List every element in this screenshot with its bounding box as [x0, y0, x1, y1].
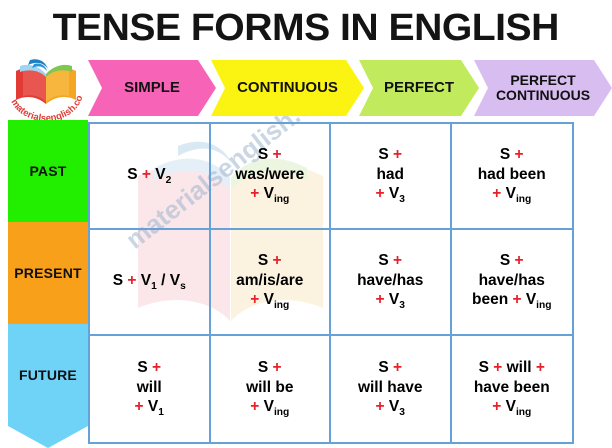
tense-formula-line: + V1	[135, 397, 164, 420]
tense-formula-line: S + V2	[127, 165, 171, 188]
row-header-column: PAST PRESENT FUTURE	[8, 120, 88, 446]
row-header-present-label: PRESENT	[14, 265, 82, 281]
column-header-perfect-continuous[interactable]: PERFECT CONTINUOUS	[474, 60, 612, 116]
tense-cell: S + will +have been+ Ving	[452, 336, 573, 442]
tense-cell: S +have/hasbeen + Ving	[452, 230, 573, 336]
tense-formula-line: have/has	[479, 271, 545, 290]
column-header-row: materialsenglish.com SIMPLE CONTINUOUS P…	[0, 56, 612, 120]
tense-formula-line: + V3	[376, 290, 405, 313]
tense-formula-line: S +	[500, 251, 524, 270]
row-header-future-label: FUTURE	[19, 367, 77, 383]
tense-formula-line: S +	[378, 251, 402, 270]
site-logo: materialsenglish.com	[4, 58, 88, 120]
tense-cell: S + V2	[90, 124, 211, 230]
column-header-perfect-label: PERFECT	[384, 80, 454, 96]
pc-line2: CONTINUOUS	[496, 87, 590, 103]
row-header-past-label: PAST	[29, 163, 66, 179]
tense-formula-line: been + Ving	[472, 290, 552, 313]
title-bar: TENSE FORMS IN ENGLISH	[0, 0, 612, 56]
tense-formula-line: will be	[246, 378, 293, 397]
tense-formula-line: S +	[258, 145, 282, 164]
tense-formula-line: S +	[258, 358, 282, 377]
tense-cell: S +had been+ Ving	[452, 124, 573, 230]
column-header-perfect[interactable]: PERFECT	[359, 60, 479, 116]
tense-cell: S +was/were+ Ving	[211, 124, 332, 230]
tense-formula-line: am/is/are	[236, 271, 303, 290]
tense-formula-line: S +	[258, 251, 282, 270]
tense-cell: S + V1 / Vs	[90, 230, 211, 336]
column-header-continuous[interactable]: CONTINUOUS	[211, 60, 364, 116]
tense-formula-line: had	[376, 165, 404, 184]
tense-formula-line: + Ving	[250, 184, 289, 207]
pc-line1: PERFECT	[510, 72, 575, 88]
tense-formula-line: + V3	[376, 397, 405, 420]
tense-formula-line: will	[137, 378, 162, 397]
tense-formula-line: will have	[358, 378, 423, 397]
tense-cell: S +had+ V3	[331, 124, 452, 230]
tense-formula-line: S + will +	[479, 358, 545, 377]
book-glyph	[16, 59, 76, 104]
tense-formula-line: was/were	[235, 165, 304, 184]
tense-formula-line: S +	[378, 358, 402, 377]
tense-formula-line: + Ving	[492, 184, 531, 207]
tense-cell: S +will have+ V3	[331, 336, 452, 442]
tense-formula-line: + Ving	[250, 397, 289, 420]
column-header-perfect-continuous-label: PERFECT CONTINUOUS	[496, 73, 590, 102]
tense-chart: materialsenglish.com materialsenglish.co…	[0, 56, 612, 446]
tense-formula-line: S +	[500, 145, 524, 164]
column-header-simple-label: SIMPLE	[124, 80, 180, 96]
tense-formula-line: S +	[378, 145, 402, 164]
page-title: TENSE FORMS IN ENGLISH	[53, 9, 559, 47]
tense-cell: S +am/is/are+ Ving	[211, 230, 332, 336]
tense-cell: S +will be+ Ving	[211, 336, 332, 442]
tense-formula-line: have/has	[357, 271, 423, 290]
column-header-continuous-label: CONTINUOUS	[237, 80, 338, 96]
tense-cell: S +will+ V1	[90, 336, 211, 442]
column-header-simple[interactable]: SIMPLE	[88, 60, 216, 116]
tense-formula-line: S +	[137, 358, 161, 377]
row-header-future[interactable]: FUTURE	[8, 324, 88, 448]
tense-formula-line: + Ving	[492, 397, 531, 420]
tense-formula-line: S + V1 / Vs	[113, 271, 186, 294]
tense-formula-line: have been	[474, 378, 550, 397]
tense-formula-line: had been	[478, 165, 546, 184]
tense-cell: S +have/has+ V3	[331, 230, 452, 336]
tense-formula-line: + V3	[376, 184, 405, 207]
tense-table: S + V2S +was/were+ VingS +had+ V3S +had …	[88, 122, 574, 444]
tense-formula-line: + Ving	[250, 290, 289, 313]
